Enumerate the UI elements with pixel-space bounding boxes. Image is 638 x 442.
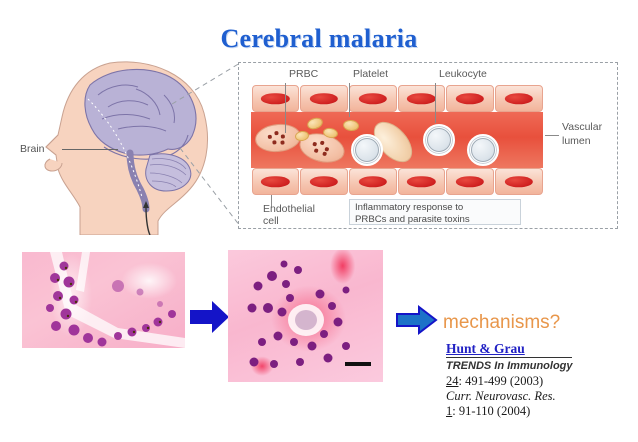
citation-pages-2: : 91-110 (2004) <box>452 404 530 418</box>
cell-nucleus <box>310 93 338 105</box>
cell-nucleus <box>261 176 289 188</box>
brain-label: Brain <box>20 143 45 155</box>
slide-canvas: Cerebral malaria Brain <box>0 0 638 442</box>
label-prbc: PRBC <box>289 68 318 80</box>
leukocyte-cell <box>467 134 499 166</box>
platelet <box>306 116 325 131</box>
citation-rule <box>446 357 572 358</box>
leukocyte-cell <box>351 134 383 166</box>
label-endothelial-2: cell <box>263 215 279 227</box>
mechanisms-label: mechanisms? <box>443 312 560 334</box>
label-platelet: Platelet <box>353 68 388 80</box>
platelet <box>342 119 359 132</box>
vessel-callout-panel: PRBC Platelet Leukocyte Vascular lumen E… <box>238 62 618 229</box>
cell-nucleus <box>359 93 387 105</box>
cell-nucleus <box>456 176 484 188</box>
brain-leader-line <box>62 149 118 150</box>
leukocyte-leader-line <box>435 83 436 123</box>
endothelial-cell <box>300 168 348 195</box>
cell-nucleus <box>359 176 387 188</box>
citation-journal-1: TRENDS In Immunology <box>446 359 596 374</box>
prbc-leader-line <box>285 83 286 133</box>
endothelial-cell <box>398 168 446 195</box>
endothelial-cell <box>252 168 300 195</box>
endothelial-cell <box>446 85 494 112</box>
page-title: Cerebral malaria <box>0 24 638 54</box>
cell-nucleus <box>505 93 533 105</box>
label-endothelial-1: Endothelial <box>263 203 315 215</box>
cell-nucleus <box>407 176 435 188</box>
endothelium-row-bottom <box>251 168 543 195</box>
citation-volume-1: 24 <box>446 374 459 388</box>
micrograph-1-cells <box>22 252 185 348</box>
endothelial-cell <box>349 168 397 195</box>
arrow-progression-1 <box>190 300 230 334</box>
endothelial-cell <box>446 168 494 195</box>
cell-nucleus <box>456 93 484 105</box>
citation-reference-1: 24: 491-499 (2003) <box>446 374 596 389</box>
micrograph-panel-1 <box>22 252 185 348</box>
citation-reference-2: 1: 91-110 (2004) <box>446 404 596 419</box>
label-vascular-lumen-1: Vascular <box>562 121 602 133</box>
citation-journal-2: Curr. Neurovasc. Res. <box>446 389 596 404</box>
vascular-lumen <box>251 112 543 168</box>
callout-fan-lines <box>150 62 242 228</box>
endothelial-cell <box>398 85 446 112</box>
citation-block: Hunt & Grau TRENDS In Immunology 24: 491… <box>446 341 596 419</box>
vascular-lumen-leader-line <box>545 135 559 136</box>
endothelium-row-top <box>251 85 543 112</box>
label-vascular-lumen-2: lumen <box>562 135 591 147</box>
inflammatory-response-line2: PRBCs and parasite toxins <box>355 214 515 226</box>
inflammatory-response-box: Inflammatory response to PRBCs and paras… <box>349 199 521 225</box>
cell-nucleus <box>310 176 338 188</box>
label-leukocyte: Leukocyte <box>439 68 487 80</box>
endothelial-cell <box>300 85 348 112</box>
micrograph-2-cells <box>228 250 383 382</box>
micrograph-panel-2 <box>228 250 383 382</box>
arrow-progression-2 <box>396 305 438 335</box>
blood-vessel-diagram <box>251 85 543 195</box>
cell-nucleus <box>505 176 533 188</box>
platelet-leader-line <box>349 83 350 117</box>
endothelial-cell <box>495 168 543 195</box>
cell-nucleus <box>407 93 435 105</box>
endothelial-cell <box>495 85 543 112</box>
leukocyte-cell <box>423 124 455 156</box>
citation-authors: Hunt & Grau <box>446 341 596 356</box>
inflammatory-response-line1: Inflammatory response to <box>355 202 515 214</box>
endothelial-cell <box>349 85 397 112</box>
endothelial-cell <box>252 85 300 112</box>
citation-pages-1: : 491-499 (2003) <box>459 374 544 388</box>
